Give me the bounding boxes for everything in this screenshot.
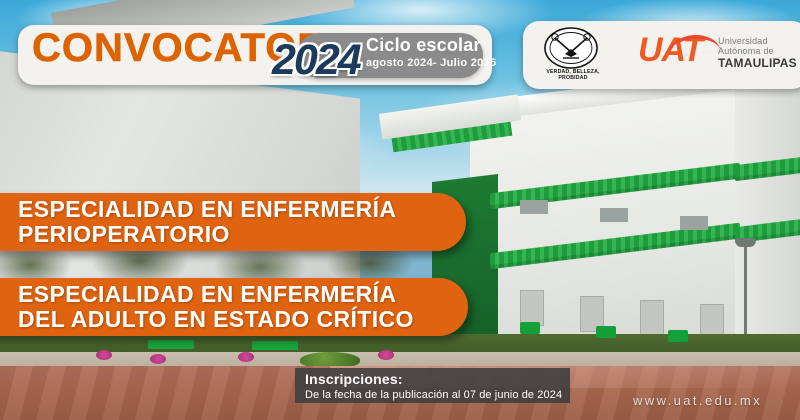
uat-wordmark-line3: TAMAULIPAS: [718, 56, 797, 70]
building-window: [600, 208, 628, 222]
flower-cluster: [150, 354, 166, 364]
program-bar-2: ESPECIALIDAD EN ENFERMERÍA DEL ADULTO EN…: [0, 278, 468, 336]
program-2-line-1: ESPECIALIDAD EN ENFERMERÍA: [18, 282, 468, 307]
inscriptions-title: Inscripciones:: [305, 372, 570, 387]
cycle-label: Ciclo escolar: [366, 35, 481, 56]
website-url: www.uat.edu.mx: [633, 393, 762, 408]
street-lamp: [744, 245, 747, 337]
uat-wordmark-line1: Universidad: [718, 36, 768, 46]
building-door: [640, 300, 664, 336]
green-bench: [148, 340, 194, 349]
program-bar-1: ESPECIALIDAD EN ENFERMERÍA PERIOPERATORI…: [0, 193, 466, 251]
green-bin: [520, 322, 540, 334]
flower-cluster: [238, 352, 254, 362]
program-1-line-1: ESPECIALIDAD EN ENFERMERÍA: [18, 197, 466, 222]
flower-cluster: [378, 350, 394, 360]
green-bin: [668, 330, 688, 342]
year-badge: 2024: [272, 36, 360, 85]
inscriptions-detail: De la fecha de la publicación al 07 de j…: [305, 388, 570, 402]
building-window: [680, 216, 708, 230]
program-1-line-2: PERIOPERATORIO: [18, 222, 466, 247]
green-bench: [252, 341, 298, 350]
convocatoria-poster: CONVOCATORIA Ciclo escolar agosto 2024- …: [0, 0, 800, 420]
uat-seal-motto: VERDAD, BELLEZA, PROBIDAD: [538, 69, 608, 81]
building-window: [520, 200, 548, 214]
uat-wordmark-line2: Autónoma de: [718, 46, 774, 56]
uat-seal-icon: [543, 26, 599, 70]
inscriptions-box: Inscripciones: De la fecha de la publica…: [295, 368, 570, 403]
flower-cluster: [96, 350, 112, 360]
program-2-line-2: DEL ADULTO EN ESTADO CRÍTICO: [18, 307, 468, 332]
building-door: [520, 290, 544, 326]
cycle-range: agosto 2024- Julio 2025: [366, 57, 496, 69]
green-bin: [596, 326, 616, 338]
